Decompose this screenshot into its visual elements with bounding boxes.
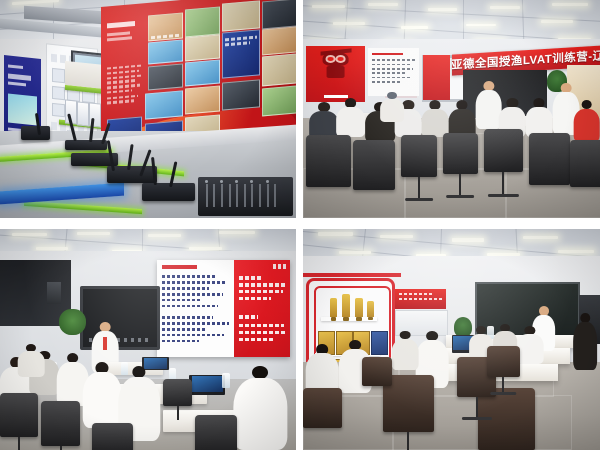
wall-photo-tile: [262, 0, 296, 30]
wall-photo-tile: [185, 60, 220, 87]
wall-photo-tile: [185, 86, 220, 115]
photo-collage: 利亚德全国授渔LVAT训练营-辽宁: [0, 0, 600, 450]
executive-chair: [303, 388, 342, 428]
classroom-presentation-scene: [0, 229, 296, 450]
office-chair: [195, 415, 236, 450]
ceiling-light: [219, 231, 255, 234]
laptop: [189, 375, 225, 395]
wall-photo-tile: [148, 13, 183, 42]
ceiling-light: [77, 232, 110, 235]
office-chair: [484, 129, 523, 173]
ceiling-light: [189, 247, 222, 250]
ceiling-light: [380, 235, 413, 238]
wall-photo-tile: [185, 6, 220, 37]
standing-attendee: [573, 313, 597, 370]
ceiling-light: [541, 20, 574, 23]
office-chair: [529, 133, 571, 185]
executive-chair: [487, 346, 520, 377]
office-chair: [306, 135, 351, 187]
honor-wall-accent-stripe: [303, 273, 401, 277]
seated-participant: [380, 92, 404, 123]
ceiling-light: [428, 8, 458, 11]
trophy: [355, 298, 363, 318]
wall-photo-tile: [222, 29, 260, 78]
office-chair: [0, 393, 38, 437]
router-device: [21, 126, 51, 139]
ceiling-light: [318, 232, 354, 235]
wall-photo-tile: [262, 53, 296, 86]
seated-attendee: [517, 326, 544, 364]
red-info-board: [395, 289, 445, 309]
seated-participant: [526, 98, 553, 137]
collage-photo-bottom-right: [303, 229, 600, 450]
ceiling-light: [312, 5, 345, 8]
seated-student: [18, 344, 45, 377]
executive-chair: [362, 357, 392, 386]
office-chair: [443, 133, 479, 174]
water-bottle: [222, 373, 230, 388]
trophy: [342, 294, 350, 317]
training-camp-scene: 利亚德全国授渔LVAT训练营-辽宁: [303, 0, 600, 218]
wall-photo-tile: [148, 40, 183, 65]
ceiling-light: [452, 238, 485, 241]
trophy: [367, 301, 374, 318]
ceiling-light: [333, 22, 366, 25]
red-wall-title: [107, 18, 140, 64]
collage-photo-top-right: 利亚德全国授渔LVAT训练营-辽宁: [303, 0, 600, 218]
ceiling-light: [552, 3, 588, 6]
wall-speaker: [47, 282, 60, 304]
shelf-brochure: [77, 101, 89, 126]
ceiling-light: [490, 6, 520, 9]
wall-photo-tile: [148, 64, 183, 91]
wall-photo-tile: [222, 1, 260, 32]
office-chair: [163, 379, 193, 406]
wall-photo-tile: [222, 79, 260, 110]
wall-photo-tile: [262, 86, 296, 117]
audio-mixing-console: [198, 177, 293, 216]
award-plaque: [371, 331, 388, 355]
projection-screen: [157, 260, 290, 357]
red-wall-body-text: [107, 64, 143, 115]
owl-logo-icon: [320, 52, 351, 78]
ceiling-light: [523, 236, 559, 239]
seated-participant: [309, 102, 339, 139]
office-chair: [92, 423, 133, 450]
slide-left-outline: [157, 260, 234, 357]
seated-participant: [336, 98, 366, 137]
router-device: [65, 140, 106, 151]
potted-plant: [59, 309, 86, 336]
trophy: [330, 298, 338, 318]
standing-instructor: [475, 81, 502, 129]
ceiling-light: [466, 24, 496, 27]
conference-room-scene: [303, 229, 600, 450]
ceiling-light: [12, 233, 48, 236]
wall-text-board: [368, 48, 418, 96]
wall-photo-tile: [262, 27, 296, 56]
seated-participant: [573, 100, 600, 141]
ceiling-light: [368, 3, 398, 6]
brand-panel-primary: [306, 46, 365, 103]
office-chair: [41, 401, 79, 445]
brand-panel-right: [423, 55, 450, 101]
office-chair: [401, 135, 437, 176]
ceiling-light: [339, 251, 372, 254]
seated-student: [83, 362, 121, 428]
ceiling-light: [36, 247, 69, 250]
exhibition-hall-scene: [0, 0, 296, 218]
office-chair: [570, 140, 600, 188]
seated-attendee: [392, 331, 419, 371]
collage-photo-top-left: [0, 0, 296, 218]
slide-right-highlight: [234, 260, 290, 357]
presentation-slide: [157, 260, 290, 357]
ceiling-light: [401, 26, 428, 29]
collage-photo-bottom-left: [0, 229, 296, 450]
seated-participant: [422, 100, 449, 137]
ceiling-light: [148, 234, 181, 237]
office-chair: [353, 140, 395, 190]
wall-photo-tile: [185, 34, 220, 61]
ceiling-light: [558, 250, 594, 253]
seated-student: [234, 366, 287, 450]
wall-photo-tile: [145, 90, 183, 119]
